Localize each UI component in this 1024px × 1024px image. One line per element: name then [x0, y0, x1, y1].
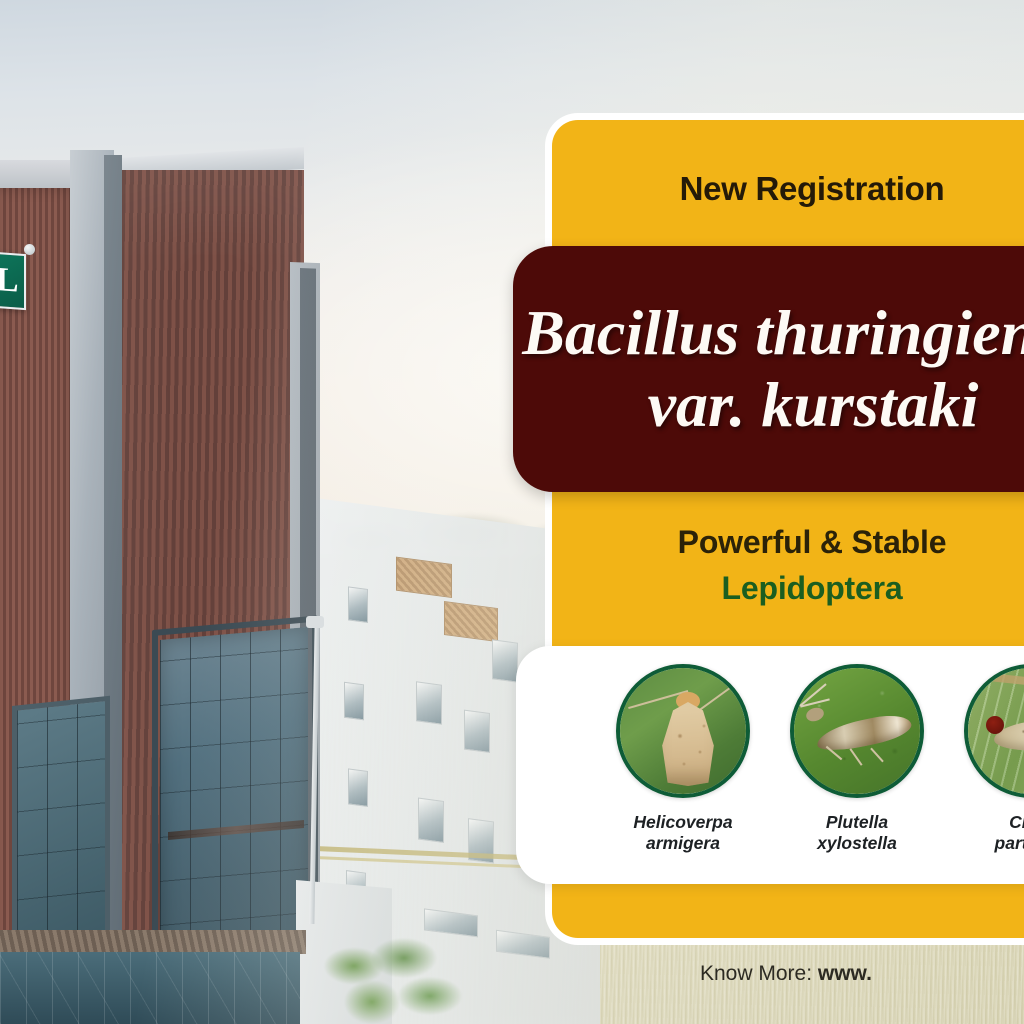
website-url[interactable]: www. [818, 962, 872, 985]
product-name-line-2: var. kurstaki [648, 369, 979, 441]
gate-grill [0, 952, 300, 1024]
pest-item: Plutella xylostella [774, 664, 940, 853]
curtain-wall-frame [152, 615, 318, 976]
target-pests-list: Helicoverpa armigera Plutella xylostella [600, 664, 1024, 853]
glass-mullions [17, 701, 105, 944]
window [418, 798, 444, 843]
target-pests-card: Helicoverpa armigera Plutella xylostella [516, 646, 1024, 884]
pest-item: Chilo partellus [948, 664, 1024, 853]
pest-photo-plutella-xylostella [790, 664, 924, 798]
pest-photo-helicoverpa-armigera [616, 664, 750, 798]
promo-tagline-secondary: Lepidoptera [552, 570, 1024, 607]
know-more-label: Know More: [700, 962, 818, 985]
pest-name: Plutella xylostella [817, 812, 897, 853]
product-binomial-name: Bacillus thuringiensis var. kurstaki [513, 262, 1024, 476]
logo-letter: L [0, 263, 24, 299]
window [348, 586, 368, 623]
window [464, 710, 490, 753]
window [496, 930, 550, 959]
building-plinth [0, 930, 306, 954]
entrance-gate [0, 952, 300, 1024]
promo-banner: L New Registration Bacillus thuringiensi… [0, 0, 1024, 1024]
window [344, 682, 364, 721]
window [416, 681, 442, 724]
wall-vent [444, 601, 498, 642]
promo-tagline-primary: Powerful & Stable [552, 524, 1024, 561]
foreground-tree [318, 930, 468, 1024]
window [492, 639, 518, 682]
product-name-line-1: Bacillus thuringiensis [522, 297, 1024, 369]
pest-item: Helicoverpa armigera [600, 664, 766, 853]
promo-eyebrow: New Registration [552, 170, 1024, 208]
know-more-line: Know More: www. [700, 962, 1024, 986]
pest-name: Helicoverpa armigera [633, 812, 732, 853]
pest-name: Chilo partellus [995, 812, 1024, 853]
larva-head-icon [986, 716, 1004, 734]
wall-vent [396, 557, 452, 598]
window [348, 768, 368, 807]
pest-photo-chilo-partellus [964, 664, 1024, 798]
light-pole-head [306, 616, 324, 628]
company-logo-sign: L [0, 250, 26, 310]
entrance-glazing [12, 696, 110, 950]
